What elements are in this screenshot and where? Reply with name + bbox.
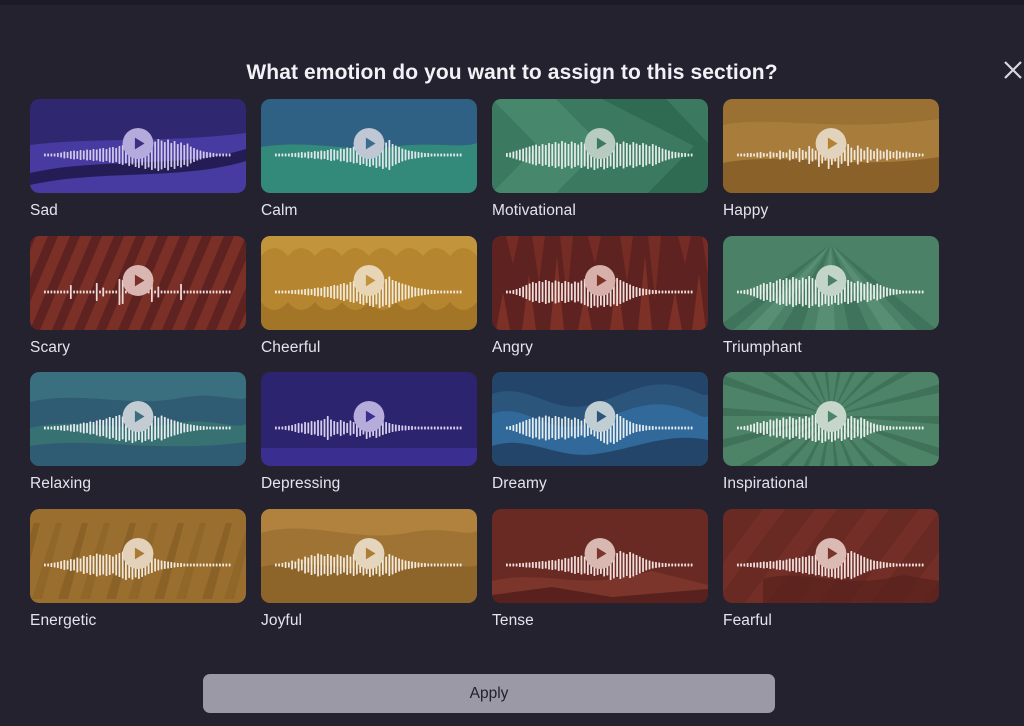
play-icon[interactable]: [816, 265, 847, 296]
play-icon[interactable]: [816, 401, 847, 432]
emotion-card-energetic[interactable]: Energetic: [30, 509, 246, 631]
emotion-thumbnail[interactable]: [723, 372, 939, 466]
emotion-thumbnail[interactable]: [492, 99, 708, 193]
emotion-thumbnail[interactable]: [30, 99, 246, 193]
emotion-picker-dialog: What emotion do you want to assign to th…: [0, 0, 1024, 726]
emotion-card-cheerful[interactable]: Cheerful: [261, 236, 477, 358]
play-icon[interactable]: [816, 538, 847, 569]
play-icon[interactable]: [585, 265, 616, 296]
emotion-thumbnail[interactable]: [492, 236, 708, 330]
play-icon[interactable]: [123, 265, 154, 296]
emotion-label: Triumphant: [723, 339, 939, 358]
emotion-label: Joyful: [261, 612, 477, 631]
emotion-thumbnail[interactable]: [261, 509, 477, 603]
emotion-label: Energetic: [30, 612, 246, 631]
play-icon[interactable]: [123, 401, 154, 432]
emotion-card-joyful[interactable]: Joyful: [261, 509, 477, 631]
emotion-label: Scary: [30, 339, 246, 358]
emotion-card-motivational[interactable]: Motivational: [492, 99, 708, 221]
play-icon[interactable]: [354, 128, 385, 159]
emotion-thumbnail[interactable]: [261, 99, 477, 193]
play-icon[interactable]: [354, 401, 385, 432]
play-icon[interactable]: [354, 538, 385, 569]
emotion-label: Inspirational: [723, 475, 939, 494]
emotion-thumbnail[interactable]: [492, 372, 708, 466]
emotion-card-calm[interactable]: Calm: [261, 99, 477, 221]
play-icon[interactable]: [585, 401, 616, 432]
play-icon[interactable]: [354, 265, 385, 296]
emotion-card-happy[interactable]: Happy: [723, 99, 939, 221]
emotion-thumbnail[interactable]: [723, 236, 939, 330]
play-icon[interactable]: [816, 128, 847, 159]
close-icon[interactable]: [998, 55, 1024, 85]
emotion-card-triumphant[interactable]: Triumphant: [723, 236, 939, 358]
emotion-label: Happy: [723, 202, 939, 221]
emotion-card-angry[interactable]: Angry: [492, 236, 708, 358]
emotion-label: Angry: [492, 339, 708, 358]
emotion-thumbnail[interactable]: [30, 509, 246, 603]
emotion-thumbnail[interactable]: [30, 372, 246, 466]
emotion-thumbnail[interactable]: [723, 509, 939, 603]
emotion-card-dreamy[interactable]: Dreamy: [492, 372, 708, 494]
play-icon[interactable]: [585, 128, 616, 159]
emotion-label: Fearful: [723, 612, 939, 631]
emotion-grid: Sad Calm: [30, 99, 994, 630]
emotion-thumbnail[interactable]: [492, 509, 708, 603]
emotion-card-relaxing[interactable]: Relaxing: [30, 372, 246, 494]
emotion-thumbnail[interactable]: [261, 236, 477, 330]
emotion-card-sad[interactable]: Sad: [30, 99, 246, 221]
emotion-thumbnail[interactable]: [30, 236, 246, 330]
emotion-thumbnail[interactable]: [723, 99, 939, 193]
play-icon[interactable]: [123, 128, 154, 159]
emotion-card-inspirational[interactable]: Inspirational: [723, 372, 939, 494]
emotion-thumbnail[interactable]: [261, 372, 477, 466]
emotion-label: Sad: [30, 202, 246, 221]
emotion-label: Motivational: [492, 202, 708, 221]
emotion-card-fearful[interactable]: Fearful: [723, 509, 939, 631]
emotion-label: Dreamy: [492, 475, 708, 494]
play-icon[interactable]: [585, 538, 616, 569]
emotion-label: Cheerful: [261, 339, 477, 358]
page-title: What emotion do you want to assign to th…: [0, 62, 1024, 83]
emotion-label: Depressing: [261, 475, 477, 494]
emotion-card-tense[interactable]: Tense: [492, 509, 708, 631]
emotion-label: Tense: [492, 612, 708, 631]
emotion-label: Calm: [261, 202, 477, 221]
play-icon[interactable]: [123, 538, 154, 569]
emotion-card-depressing[interactable]: Depressing: [261, 372, 477, 494]
emotion-card-scary[interactable]: Scary: [30, 236, 246, 358]
apply-button[interactable]: Apply: [203, 674, 775, 713]
emotion-label: Relaxing: [30, 475, 246, 494]
